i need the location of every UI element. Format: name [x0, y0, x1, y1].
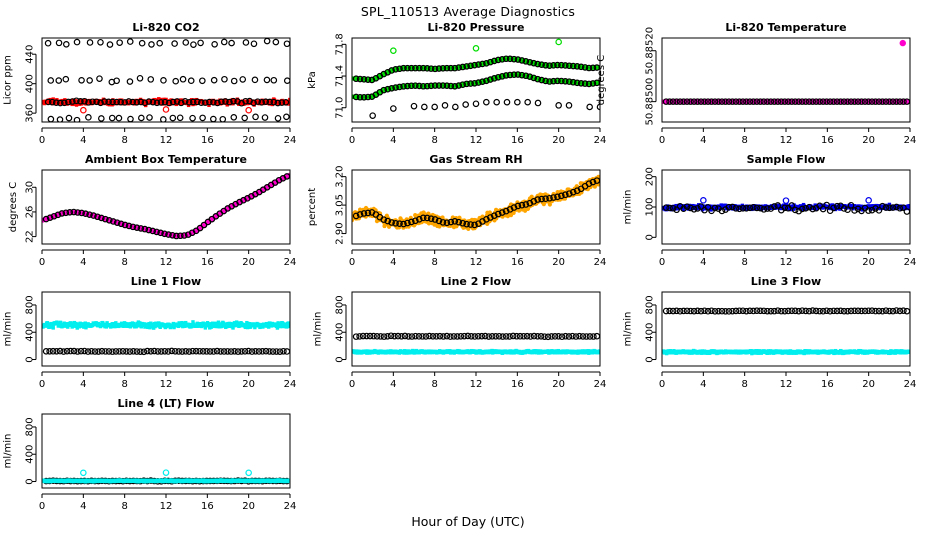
panel-title: Gas Stream RH	[429, 153, 522, 166]
y-tick-label: 0	[334, 356, 345, 362]
panel-ambient-box-temperature: 04812162024222630degrees CAmbient Box Te…	[8, 153, 297, 268]
y-tick-label: 3.05	[334, 194, 345, 216]
x-tick-label: 8	[121, 257, 127, 268]
x-tick-label: 0	[39, 379, 45, 390]
x-tick-label: 0	[349, 257, 355, 268]
x-tick-label: 24	[284, 379, 297, 390]
x-tick-label: 24	[284, 257, 297, 268]
x-tick-label: 24	[284, 501, 297, 512]
panel-frame	[662, 292, 910, 366]
x-tick-label: 0	[39, 257, 45, 268]
x-tick-label: 12	[780, 135, 793, 146]
panel-sample-flow: 048121620240100200ml/minSample Flow	[623, 153, 917, 268]
panel-title: Sample Flow	[747, 153, 826, 166]
x-tick-label: 4	[700, 257, 706, 268]
y-tick-label: 3.20	[334, 166, 345, 188]
y-tick-label: 2.90	[334, 222, 345, 244]
x-tick-label: 0	[39, 135, 45, 146]
y-tick-label: 50.88500	[644, 78, 655, 126]
x-tick-label: 16	[511, 135, 524, 146]
panel-line-4-lt-flow: 048121620240400800ml/minLine 4 (LT) Flow	[2, 397, 296, 512]
x-tick-label: 12	[470, 135, 483, 146]
series-line2-band-cyan	[351, 349, 601, 355]
x-tick-label: 0	[659, 257, 665, 268]
panel-title: Line 3 Flow	[751, 275, 821, 288]
panel-li-820-temperature: 0481216202450.8850050.88520degrees CLi-8…	[596, 21, 916, 146]
x-tick-label: 0	[659, 379, 665, 390]
panel-title: Li-820 Pressure	[428, 21, 525, 34]
series-line4-band-cyan	[41, 478, 291, 483]
series-box-temperature-magenta	[40, 173, 291, 238]
y-tick-label: 800	[334, 295, 345, 314]
y-tick-label: 50.88520	[644, 27, 655, 75]
y-tick-label: 100	[644, 197, 655, 216]
panel-ylabel: Licor ppm	[3, 55, 14, 105]
x-tick-label: 4	[80, 501, 86, 512]
panel-ylabel: ml/min	[2, 312, 13, 347]
panel-line-1-flow: 048121620240400800ml/minLine 1 Flow	[2, 275, 296, 390]
x-tick-label: 12	[160, 135, 173, 146]
x-tick-label: 8	[121, 135, 127, 146]
series-line2-points-black	[353, 333, 599, 339]
x-tick-label: 8	[431, 379, 437, 390]
y-tick-label: 0	[644, 356, 655, 362]
x-tick-label: 8	[121, 501, 127, 512]
series-hourly-points-black	[45, 38, 290, 122]
x-tick-label: 12	[160, 501, 173, 512]
panel-title: Li-820 Temperature	[725, 21, 846, 34]
plot-area	[40, 173, 291, 239]
x-tick-label: 16	[821, 257, 834, 268]
panel-frame	[662, 38, 910, 122]
x-tick-label: 0	[349, 135, 355, 146]
y-tick-label: 800	[24, 417, 35, 436]
y-tick-label: 0	[24, 478, 35, 484]
panel-title: Line 2 Flow	[441, 275, 511, 288]
x-tick-label: 12	[470, 379, 483, 390]
panel-ylabel: ml/min	[623, 190, 634, 225]
diagnostics-figure: SPL_110513 Average Diagnostics 048121620…	[0, 0, 936, 540]
panel-li-820-pressure: 0481216202471.071.471.8kPaLi-820 Pressur…	[307, 21, 606, 146]
panel-frame	[352, 170, 600, 244]
x-tick-label: 12	[780, 257, 793, 268]
x-tick-label: 24	[284, 135, 297, 146]
x-tick-label: 4	[390, 379, 396, 390]
y-tick-label: 400	[24, 323, 35, 342]
x-tick-label: 4	[390, 257, 396, 268]
panel-ylabel: ml/min	[623, 312, 634, 347]
panel-ylabel: degrees C	[8, 182, 19, 232]
x-tick-label: 4	[80, 257, 86, 268]
figure-xlabel: Hour of Day (UTC)	[0, 514, 936, 529]
series-pressure-points-black	[353, 56, 599, 100]
x-tick-label: 16	[821, 379, 834, 390]
y-tick-label: 800	[644, 295, 655, 314]
x-tick-label: 0	[659, 135, 665, 146]
plot-area	[41, 470, 291, 484]
plot-area	[661, 40, 911, 104]
y-tick-label: 71.4	[334, 65, 345, 87]
x-tick-label: 16	[511, 257, 524, 268]
x-tick-label: 8	[431, 135, 437, 146]
plot-area	[41, 320, 291, 354]
panel-title: Line 1 Flow	[131, 275, 201, 288]
plot-area	[661, 198, 911, 215]
x-tick-label: 16	[201, 257, 214, 268]
x-tick-label: 24	[594, 135, 607, 146]
panel-line-2-flow: 048121620240400800ml/minLine 2 Flow	[313, 275, 607, 390]
panel-title: Ambient Box Temperature	[85, 153, 247, 166]
y-tick-label: 400	[24, 445, 35, 464]
x-tick-label: 20	[242, 379, 255, 390]
series-flagged-red-circles	[81, 107, 252, 113]
x-tick-label: 8	[121, 379, 127, 390]
series-pressure-low-trace-black	[370, 99, 603, 118]
x-tick-label: 12	[160, 379, 173, 390]
plot-area	[41, 38, 291, 122]
series-line1-points-black	[43, 348, 289, 354]
x-tick-label: 24	[594, 379, 607, 390]
panel-ylabel: ml/min	[313, 312, 324, 347]
panel-gas-stream-rh: 048121620242.903.053.20percentGas Stream…	[307, 153, 606, 268]
x-tick-label: 16	[511, 379, 524, 390]
x-tick-label: 16	[201, 379, 214, 390]
y-tick-label: 200	[644, 167, 655, 186]
x-tick-label: 8	[741, 379, 747, 390]
panel-grid: 04812162024360400440Licor ppmLi-820 CO20…	[0, 0, 936, 540]
plot-area	[350, 39, 602, 118]
x-tick-label: 24	[904, 379, 917, 390]
series-sample-flow-spikes-blue	[701, 198, 872, 204]
x-tick-label: 24	[904, 135, 917, 146]
series-line1-band-cyan	[41, 320, 291, 330]
series-line4-spikes-cyan	[81, 470, 252, 476]
x-tick-label: 0	[349, 379, 355, 390]
x-tick-label: 16	[821, 135, 834, 146]
x-tick-label: 12	[470, 257, 483, 268]
panel-frame	[42, 414, 290, 488]
y-tick-label: 22	[24, 230, 35, 243]
y-tick-label: 26	[24, 206, 35, 219]
y-tick-label: 71.0	[334, 97, 345, 119]
x-tick-label: 20	[862, 135, 875, 146]
x-tick-label: 12	[780, 379, 793, 390]
y-tick-label: 800	[24, 295, 35, 314]
figure-title: SPL_110513 Average Diagnostics	[0, 4, 936, 19]
panel-title: Line 4 (LT) Flow	[118, 397, 215, 410]
y-tick-label: 360	[24, 104, 35, 123]
x-tick-label: 8	[741, 257, 747, 268]
panel-title: Li-820 CO2	[132, 21, 199, 34]
y-tick-label: 400	[334, 323, 345, 342]
series-box-temperature-points-black	[43, 174, 289, 239]
x-tick-label: 20	[242, 501, 255, 512]
y-tick-label: 71.8	[334, 33, 345, 55]
x-tick-label: 4	[80, 135, 86, 146]
x-tick-label: 4	[700, 135, 706, 146]
panel-ylabel: ml/min	[2, 434, 13, 469]
series-temperature-outlier-magenta	[900, 40, 906, 46]
plot-area	[350, 175, 602, 231]
x-tick-label: 4	[80, 379, 86, 390]
x-tick-label: 20	[862, 257, 875, 268]
x-tick-label: 20	[552, 379, 565, 390]
y-tick-label: 440	[24, 45, 35, 64]
x-tick-label: 16	[201, 501, 214, 512]
x-tick-label: 20	[242, 135, 255, 146]
x-tick-label: 0	[39, 501, 45, 512]
panel-ylabel: kPa	[307, 71, 318, 89]
x-tick-label: 24	[594, 257, 607, 268]
panel-li-820-co2: 04812162024360400440Licor ppmLi-820 CO2	[3, 21, 297, 146]
y-tick-label: 400	[644, 323, 655, 342]
series-line3-points-black	[663, 308, 909, 314]
x-tick-label: 8	[431, 257, 437, 268]
series-line3-band-cyan	[661, 349, 911, 355]
y-tick-label: 30	[24, 181, 35, 194]
x-tick-label: 20	[242, 257, 255, 268]
panel-ylabel: percent	[307, 188, 318, 226]
plot-area	[351, 333, 601, 355]
x-tick-label: 4	[390, 135, 396, 146]
x-tick-label: 20	[552, 257, 565, 268]
panel-ylabel: degrees C	[596, 55, 607, 105]
y-tick-label: 0	[24, 356, 35, 362]
y-tick-label: 400	[24, 74, 35, 93]
x-tick-label: 24	[904, 257, 917, 268]
x-tick-label: 20	[552, 135, 565, 146]
series-pressure-outliers-green	[391, 39, 562, 53]
x-tick-label: 12	[160, 257, 173, 268]
panel-frame	[352, 292, 600, 366]
plot-area	[661, 308, 911, 355]
y-tick-label: 0	[644, 234, 655, 240]
x-tick-label: 16	[201, 135, 214, 146]
x-tick-label: 20	[862, 379, 875, 390]
x-tick-label: 8	[741, 135, 747, 146]
panel-line-3-flow: 048121620240400800ml/minLine 3 Flow	[623, 275, 917, 390]
x-tick-label: 4	[700, 379, 706, 390]
